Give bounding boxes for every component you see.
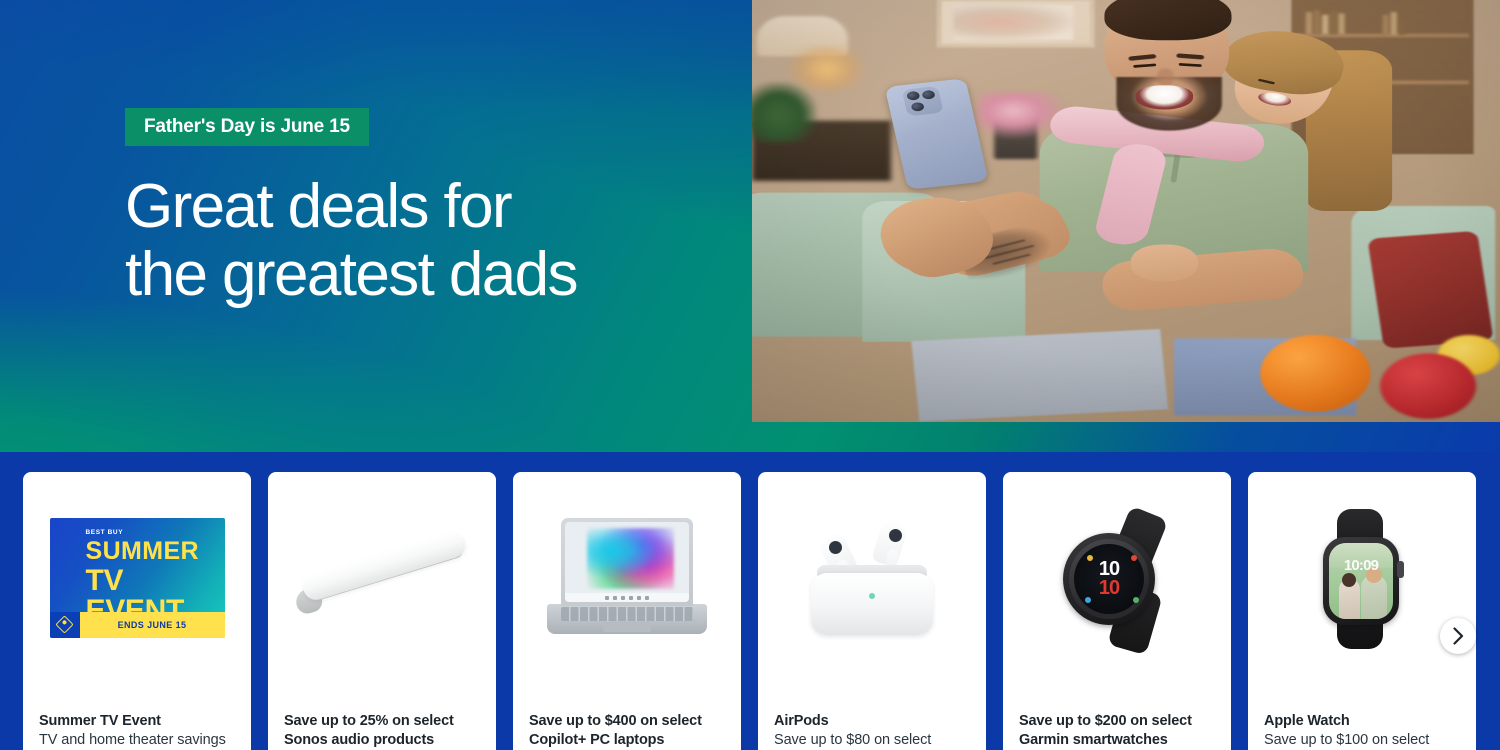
hero-photo: [752, 0, 1500, 422]
laptop-icon: [547, 518, 707, 638]
hero-copy: Father's Day is June 15 Great deals for …: [125, 108, 725, 309]
carousel-next-button[interactable]: [1440, 618, 1476, 654]
card-text-garmin-smartwatches: Save up to $200 on select Garmin smartwa…: [1019, 712, 1219, 749]
apple-watch-icon: 10:09: [1303, 513, 1421, 643]
banner-footer-text: ENDS JUNE 15: [118, 620, 187, 630]
fathers-day-badge: Father's Day is June 15: [125, 108, 369, 146]
garmin-time-top: 10: [1099, 560, 1119, 578]
hero-headline: Great deals for the greatest dads: [125, 173, 725, 309]
best-buy-tag-icon: [50, 612, 80, 638]
deals-card-list: BEST BUY SUMMER TV EVENT ENDS JUNE 15 Su…: [23, 472, 1476, 750]
card-title: Save up to $200 on select Garmin smartwa…: [1019, 712, 1219, 749]
card-title: Apple Watch: [1264, 712, 1464, 731]
card-text-copilot-pc-laptops: Save up to $400 on select Copilot+ PC la…: [529, 712, 729, 749]
photo-vignette: [752, 0, 1500, 422]
apple-watch-time: 10:09: [1329, 557, 1393, 574]
deals-carousel: BEST BUY SUMMER TV EVENT ENDS JUNE 15 Su…: [0, 452, 1500, 750]
garmin-smartwatch-icon: 10 10: [1057, 513, 1177, 643]
deal-card-apple-watch[interactable]: 10:09 Apple Watch Save up to $100 on sel…: [1248, 472, 1476, 750]
banner-footer-bar: ENDS JUNE 15: [80, 612, 225, 638]
card-title: Save up to $400 on select Copilot+ PC la…: [529, 712, 729, 749]
card-title: AirPods: [774, 712, 974, 731]
card-subtitle: Save up to $100 on select: [1264, 731, 1464, 750]
card-subtitle: TV and home theater savings for: [39, 731, 239, 750]
banner-line-1: SUMMER: [86, 539, 200, 564]
page-root: Father's Day is June 15 Great deals for …: [0, 0, 1500, 750]
chevron-right-icon: [1452, 627, 1465, 645]
deal-card-airpods[interactable]: AirPods Save up to $80 on select: [758, 472, 986, 750]
summer-tv-event-banner: BEST BUY SUMMER TV EVENT ENDS JUNE 15: [50, 518, 225, 638]
card-text-apple-watch: Apple Watch Save up to $100 on select: [1264, 712, 1464, 749]
card-image-sonos-soundbar: [268, 490, 496, 665]
airpods-icon: [797, 515, 947, 640]
card-image-copilot-laptop: [513, 490, 741, 665]
garmin-time-bottom: 10: [1099, 579, 1119, 597]
card-image-garmin-watch: 10 10: [1003, 490, 1231, 665]
hero-banner[interactable]: Father's Day is June 15 Great deals for …: [0, 0, 1500, 452]
card-image-summer-tv-event: BEST BUY SUMMER TV EVENT ENDS JUNE 15: [23, 490, 251, 665]
card-image-airpods: [758, 490, 986, 665]
best-buy-wordmark: BEST BUY: [86, 529, 124, 536]
card-text-summer-tv-event: Summer TV Event TV and home theater savi…: [39, 712, 239, 750]
card-text-airpods: AirPods Save up to $80 on select: [774, 712, 974, 749]
deal-card-garmin-smartwatches[interactable]: 10 10 Save up to $200 on select Garmin s…: [1003, 472, 1231, 750]
deal-card-copilot-pc-laptops[interactable]: Save up to $400 on select Copilot+ PC la…: [513, 472, 741, 750]
card-title: Save up to 25% on select Sonos audio pro…: [284, 712, 484, 749]
sonos-soundbar-icon: [292, 523, 472, 633]
deal-card-summer-tv-event[interactable]: BEST BUY SUMMER TV EVENT ENDS JUNE 15 Su…: [23, 472, 251, 750]
card-title: Summer TV Event: [39, 712, 239, 731]
card-subtitle: Save up to $80 on select: [774, 731, 974, 750]
card-text-sonos-audio: Save up to 25% on select Sonos audio pro…: [284, 712, 484, 749]
deal-card-sonos-audio[interactable]: Save up to 25% on select Sonos audio pro…: [268, 472, 496, 750]
